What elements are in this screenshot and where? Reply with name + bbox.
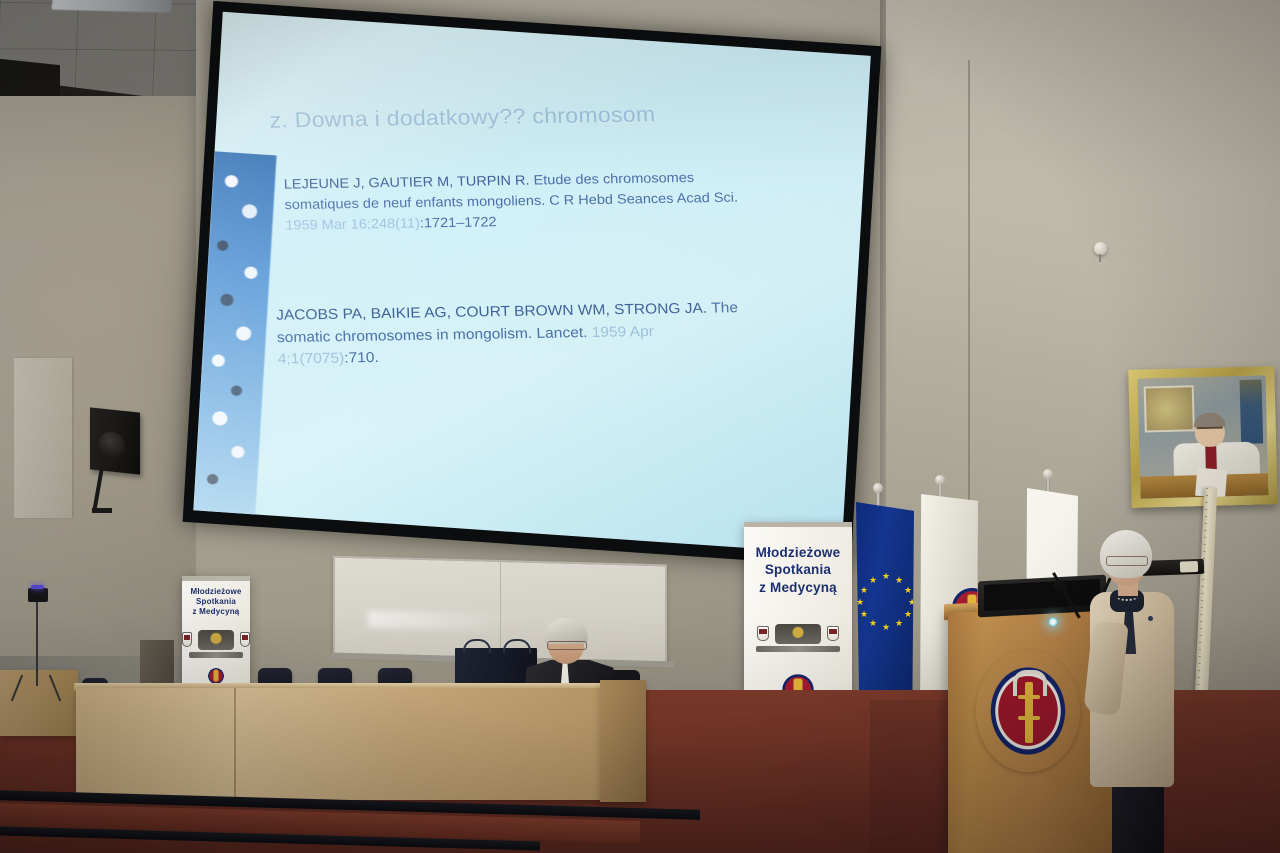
banner-right-line3: z Medycyną — [744, 579, 852, 596]
whiteboard-glare — [368, 611, 507, 632]
eu-star-icon: ★ — [860, 611, 867, 618]
crest-center-icon — [198, 630, 234, 650]
wall-speaker — [90, 407, 140, 474]
head-table — [76, 688, 642, 800]
presenter-hair — [1100, 530, 1152, 578]
lecture-hall-photo: z. Downa i dodatkowy?? chromosom LEJEUNE… — [0, 0, 1280, 853]
banner-right-line1: Młodzieżowe — [744, 544, 852, 561]
glasses-icon — [1197, 426, 1223, 434]
podium-indicator-light — [1048, 617, 1058, 627]
presenter-at-podium — [1086, 530, 1182, 853]
banner-left-line3: z Medycyną — [182, 607, 250, 617]
eu-star-icon: ★ — [869, 620, 876, 627]
eu-star-icon: ★ — [895, 620, 902, 627]
desk-panel-seam — [234, 688, 236, 800]
portrait-frame — [1128, 366, 1278, 508]
framed-portrait — [1128, 366, 1278, 508]
crest-right-icon — [240, 632, 250, 647]
glasses-icon — [1106, 556, 1148, 566]
wall-panel — [14, 358, 72, 518]
portrait-wall-art — [1144, 385, 1195, 432]
reference-1-citation: 1959 Mar 16;248(11) — [285, 216, 420, 233]
reference-1-authors: LEJEUNE J, GAUTIER M, TURPIN R. — [284, 173, 530, 192]
camera-tripod — [36, 600, 38, 686]
projection-screen: z. Downa i dodatkowy?? chromosom LEJEUNE… — [183, 1, 882, 567]
banner-left-line1: Młodzieżowe — [182, 587, 250, 597]
glasses-icon — [547, 641, 587, 650]
banner-rail — [744, 522, 852, 527]
eu-star-icon: ★ — [904, 611, 911, 618]
smoke-detector-icon — [1094, 242, 1107, 255]
slide-reference-2: JACOBS PA, BAIKIE AG, COURT BROWN WM, ST… — [276, 297, 749, 371]
eu-star-icon: ★ — [860, 587, 867, 594]
ceiling-light-fixture — [51, 0, 172, 13]
laptop-screen — [984, 579, 1100, 611]
crest-left-icon — [757, 626, 769, 641]
banner-left-line2: Spotkania — [182, 597, 250, 607]
podium-gumed-seal — [976, 650, 1080, 772]
eu-star-icon: ★ — [869, 577, 876, 584]
banner-right-crests — [744, 624, 852, 644]
rear-desk — [0, 670, 78, 736]
banner-right-title: Młodzieżowe Spotkania z Medycyną — [744, 522, 852, 596]
portrait-bookshelf — [1240, 379, 1264, 444]
crest-left-icon — [182, 632, 192, 647]
slide-reference-1: LEJEUNE J, GAUTIER M, TURPIN R. Etude de… — [283, 167, 756, 236]
asclepius-rod-icon — [1025, 682, 1033, 743]
slide-title: z. Downa i dodatkowy?? chromosom — [269, 100, 750, 133]
camera-icon — [28, 588, 48, 602]
banner-left-title: Młodzieżowe Spotkania z Medycyną — [182, 576, 250, 618]
reference-2-authors: JACOBS PA, BAIKIE AG, COURT BROWN WM, ST… — [276, 301, 708, 324]
eu-stars: ★ ★ ★ ★ ★ ★ ★ ★ ★ ★ ★ ★ — [858, 573, 912, 627]
whiteboard-seam — [500, 562, 501, 657]
crest-center-icon — [775, 624, 821, 644]
eu-star-icon: ★ — [904, 587, 911, 594]
screen-surface: z. Downa i dodatkowy?? chromosom LEJEUNE… — [193, 12, 870, 555]
slide-content: z. Downa i dodatkowy?? chromosom LEJEUNE… — [255, 16, 870, 554]
crest-banner-band — [189, 652, 242, 658]
reference-2-pages: :710. — [344, 350, 379, 366]
presenter-legs — [1112, 780, 1164, 853]
speaker-bracket-foot — [92, 508, 112, 513]
banner-left-crests — [182, 630, 250, 650]
eu-star-icon: ★ — [882, 624, 889, 631]
reference-1-pages: :1721–1722 — [420, 215, 497, 231]
eu-star-icon: ★ — [882, 573, 889, 580]
head-table-side — [600, 680, 646, 802]
portrait-hair — [1193, 412, 1225, 427]
portrait-canvas — [1137, 375, 1268, 498]
crest-banner-band — [756, 646, 840, 652]
banner-rail — [182, 576, 250, 581]
microphone-head — [1053, 580, 1067, 591]
eu-star-icon: ★ — [895, 577, 902, 584]
crest-right-icon — [827, 626, 839, 641]
lapel-pin-icon — [1148, 616, 1153, 621]
banner-right-line2: Spotkania — [744, 561, 852, 578]
